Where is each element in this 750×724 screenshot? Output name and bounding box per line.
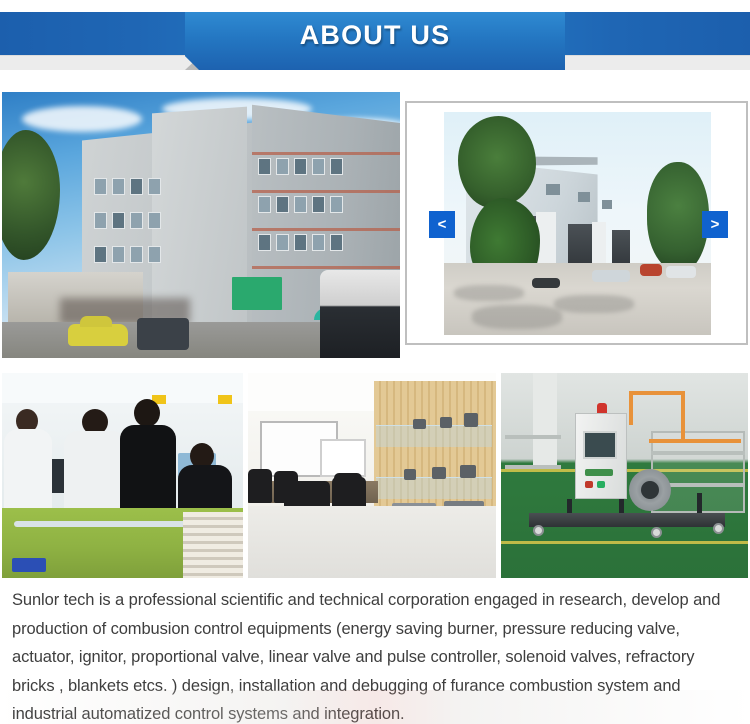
parked-car [592, 270, 630, 282]
rig-rail [651, 451, 745, 455]
side-rack [505, 465, 561, 469]
parked-car [640, 264, 662, 276]
gas-pipe [629, 391, 685, 395]
window-row [258, 196, 343, 213]
building-scene: Multi-storey grey company office buildin… [2, 92, 400, 358]
section-header: ABOUT US [0, 0, 750, 88]
stacked-binders [183, 512, 243, 578]
meeting-room-scene: Conference room with projector screen an… [248, 373, 496, 578]
chair [248, 469, 272, 503]
factory-warehouse-photo: White warehouse building with roll-up do… [444, 112, 711, 335]
hmi-touchscreen [583, 431, 617, 459]
valve-product [464, 413, 478, 427]
meeting-room-photo: Conference room with projector screen an… [248, 373, 496, 578]
tiled-floor [248, 506, 496, 578]
display-shelf [376, 425, 492, 447]
valve-product [432, 467, 446, 479]
dark-van [137, 318, 189, 350]
yellow-car [68, 324, 128, 346]
office-workspace-photo: Engineers standing together at office wo… [2, 373, 243, 578]
push-button [585, 481, 593, 488]
desk-tray [12, 558, 46, 572]
warehouse-window [546, 184, 560, 195]
gas-pipe [681, 391, 685, 443]
window-row [94, 212, 161, 229]
person-head [134, 399, 160, 427]
white-truck [320, 270, 400, 358]
gas-pipe [649, 439, 741, 443]
wall-label [218, 395, 232, 404]
person-body [120, 425, 176, 513]
caster-wheel [713, 523, 724, 534]
valve-product [440, 417, 452, 428]
support-column [533, 373, 557, 465]
company-description: Sunlor tech is a professional scientific… [0, 582, 750, 724]
person-body [4, 429, 52, 513]
warehouse-scene: White warehouse building with roll-up do… [444, 112, 711, 335]
cloud [22, 106, 142, 132]
valve-product [460, 465, 476, 478]
warehouse-window [578, 192, 590, 202]
window-row [258, 234, 343, 251]
gas-pipe [629, 391, 633, 425]
person-body [64, 431, 126, 513]
window-row [94, 246, 161, 263]
valve-product [413, 419, 426, 429]
blower-fan [629, 469, 671, 511]
motorbike [532, 278, 560, 288]
carousel-prev-button[interactable]: < [429, 211, 455, 238]
warehouse-window [602, 200, 612, 209]
caster-wheel [651, 527, 662, 538]
office-scene: Engineers standing together at office wo… [2, 373, 243, 578]
tree-right [647, 162, 709, 272]
storefront-sign [232, 277, 282, 310]
valve-product [404, 469, 416, 480]
window-row [258, 158, 343, 175]
caster-wheel [533, 525, 544, 536]
combustion-equipment-photo: Industrial combustion control test skid … [501, 373, 748, 578]
about-us-page: ABOUT US [0, 0, 750, 724]
company-building-photo: Multi-storey grey company office buildin… [2, 92, 400, 358]
office-ceiling [2, 373, 243, 403]
page-title: ABOUT US [185, 12, 565, 58]
carousel-next-button[interactable]: > [702, 211, 728, 238]
person-body [178, 465, 232, 513]
whiteboard [320, 439, 366, 477]
image-carousel[interactable]: White warehouse building with roll-up do… [405, 101, 748, 345]
push-button [597, 481, 605, 488]
parked-car [666, 266, 696, 278]
indicator-strip [585, 469, 613, 476]
side-rack [505, 435, 561, 439]
floor-marking [501, 541, 748, 544]
equipment-scene: Industrial combustion control test skid … [501, 373, 748, 578]
desk-rail [14, 521, 204, 527]
equipment-skid-base [529, 513, 725, 527]
display-shelf [376, 477, 492, 499]
window-row [94, 178, 161, 195]
